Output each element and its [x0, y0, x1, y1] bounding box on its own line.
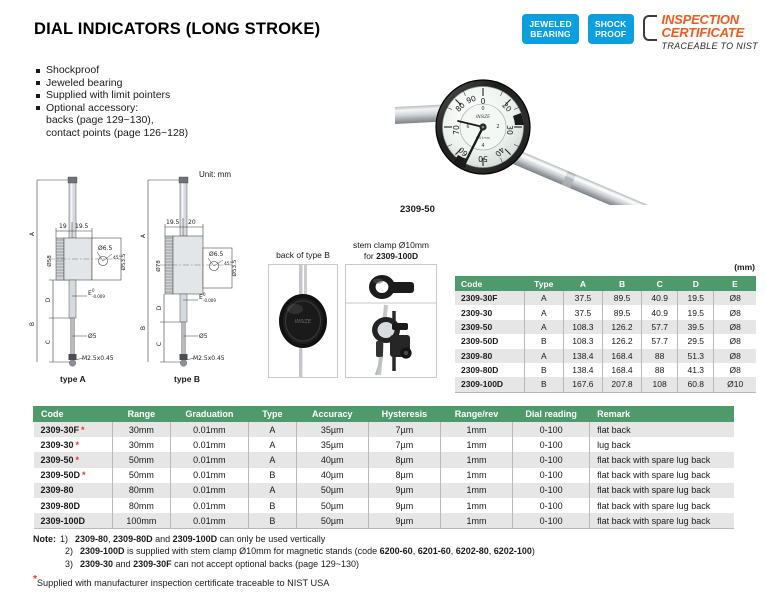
photo-back-of-type-b: INSIZE: [268, 264, 338, 378]
note-text: 2309-30 and 2309-30F can not accept opti…: [80, 558, 359, 570]
spec-cell-range: 100mm: [113, 513, 170, 529]
svg-text:4: 4: [481, 143, 484, 149]
dim-cell-code: 2309-30F: [455, 291, 524, 305]
required-star-icon: *: [82, 470, 86, 480]
spec-cell-remark: flat back with spare lug back: [590, 483, 734, 498]
table-row: 2309-30F*30mm0.01mmA35µm7µm1mm0-100flat …: [34, 422, 735, 437]
spec-col-type: Type: [249, 406, 297, 422]
product-photo-caption: 2309-50: [400, 204, 435, 215]
square-bullet-icon: [36, 106, 40, 110]
spec-cell-range: 50mm: [113, 468, 170, 483]
spec-cell-hysteresis: 8µm: [368, 468, 440, 483]
dim-bore: Ø6.5: [98, 245, 112, 252]
spec-col-remark: Remark: [590, 406, 734, 422]
dim-cell-type: B: [524, 377, 563, 392]
dim-cell-code: 2309-80: [455, 349, 524, 363]
spec-col-dial-reading: Dial reading: [513, 406, 590, 422]
dim-e-tol-top: 0: [203, 292, 206, 297]
list-item: Shockproof: [36, 64, 188, 77]
table-row: 2309-100D100mm0.01mmB50µm9µm1mm0-100flat…: [34, 513, 735, 529]
dim-cell-e: Ø8: [714, 320, 756, 334]
note-text: 2309-100D is supplied with stem clamp Ø1…: [80, 545, 535, 557]
spec-cell-hysteresis: 8µm: [368, 452, 440, 467]
dim-cell-c: 57.7: [642, 334, 678, 348]
table-header-row: Code Range Graduation Type Accuracy Hyst…: [34, 406, 735, 422]
dim-col-c: C: [642, 276, 678, 291]
feature-subline: backs (page 129~130),: [46, 114, 188, 127]
table-row: 2309-100DB167.6207.810860.8Ø10: [455, 377, 756, 392]
dim-bezel: Ø78: [155, 260, 162, 272]
dim-thread: M2.5x0.45: [82, 355, 114, 362]
certificate-bracket-icon: [643, 15, 657, 41]
jeweled-bearing-badge: JEWELED BEARING: [522, 14, 579, 44]
svg-text:2: 2: [496, 124, 499, 130]
spec-col-range-rev: Range/rev: [440, 406, 512, 422]
dim-c: C: [45, 340, 52, 344]
square-bullet-icon: [36, 69, 40, 73]
dim-d: D: [45, 297, 52, 302]
footnote: *Supplied with manufacturer inspection c…: [33, 574, 329, 588]
spec-cell-hysteresis: 7µm: [368, 422, 440, 437]
spec-cell-graduation: 0.01mm: [170, 498, 248, 513]
feature-label: Shockproof: [46, 64, 99, 77]
square-bullet-icon: [36, 94, 40, 98]
spec-cell-code: 2309-50*: [34, 452, 113, 467]
dim-cell-a: 138.4: [563, 349, 602, 363]
dimension-table-body: 2309-30FA37.589.540.919.5Ø82309-30A37.58…: [455, 291, 756, 392]
shock-badge-line2: PROOF: [595, 29, 627, 39]
spec-cell-type: B: [249, 498, 297, 513]
svg-text:INSIZE: INSIZE: [295, 319, 312, 325]
dim-cell-code: 2309-50: [455, 320, 524, 334]
spec-cell-range: 80mm: [113, 483, 170, 498]
dim-cell-type: B: [524, 363, 563, 377]
spec-cell-dial-reading: 0-100: [513, 513, 590, 529]
dim-c: C: [156, 342, 163, 346]
spec-cell-type: A: [249, 452, 297, 467]
svg-text:6: 6: [466, 124, 469, 130]
dim-dial: Ø53.5: [120, 253, 127, 270]
spec-cell-remark: flat back with spare lug back: [590, 513, 734, 529]
svg-text:INSIZE: INSIZE: [476, 114, 490, 119]
table-row: 2309-50D*50mm0.01mmB40µm8µm1mm0-100flat …: [34, 468, 735, 483]
required-star-icon: *: [81, 425, 85, 435]
dim-cell-d: 29.5: [678, 334, 714, 348]
spec-cell-hysteresis: 7µm: [368, 437, 440, 452]
dim-cell-c: 88: [642, 349, 678, 363]
dim-b: B: [140, 326, 147, 330]
dim-cell-type: A: [524, 349, 563, 363]
dim-d: D: [156, 305, 163, 310]
spec-cell-accuracy: 50µm: [296, 498, 368, 513]
photo-stem-clamp: [345, 264, 437, 378]
dim-cell-type: A: [524, 291, 563, 305]
spec-cell-graduation: 0.01mm: [170, 483, 248, 498]
dim-cell-e: Ø8: [714, 291, 756, 305]
spec-cell-code: 2309-30*: [34, 437, 113, 452]
certificate-text-block: INSPECTION CERTIFICATE TRACEABLE TO NIST: [662, 14, 758, 51]
spec-col-hysteresis: Hysteresis: [368, 406, 440, 422]
footnote-text: Supplied with manufacturer inspection ce…: [37, 578, 329, 588]
dim-angle: 45°: [113, 255, 121, 261]
spec-cell-range-rev: 1mm: [440, 513, 512, 529]
page-title: DIAL INDICATORS (LONG STROKE): [34, 20, 320, 39]
dim-cell-e: Ø10: [714, 377, 756, 392]
spec-cell-hysteresis: 9µm: [368, 513, 440, 529]
spec-cell-graduation: 0.01mm: [170, 437, 248, 452]
dim-cell-b: 89.5: [602, 305, 641, 319]
spec-cell-code: 2309-50D*: [34, 468, 113, 483]
required-star-icon: *: [76, 455, 80, 465]
spec-cell-type: B: [249, 468, 297, 483]
panel-title-back-of-type-b: back of type B: [268, 250, 338, 260]
note-text: 2309-80, 2309-80D and 2309-100D can only…: [75, 533, 325, 545]
note-item: Note: 1) 2309-80, 2309-80D and 2309-100D…: [33, 533, 753, 545]
jeweled-badge-line2: BEARING: [529, 29, 572, 39]
spec-cell-code: 2309-80: [34, 483, 113, 498]
dim-cell-a: 37.5: [563, 305, 602, 319]
spec-cell-graduation: 0.01mm: [170, 452, 248, 467]
spec-cell-range-rev: 1mm: [440, 498, 512, 513]
spec-cell-accuracy: 35µm: [296, 437, 368, 452]
engineering-drawing-type-b: 19.5 20 Ø6.5 45° E 0 -0.009 Ø5 M2.5x0.45…: [140, 176, 268, 372]
dim-cell-b: 89.5: [602, 291, 641, 305]
square-bullet-icon: [36, 81, 40, 85]
dim-cell-a: 37.5: [563, 291, 602, 305]
spec-cell-code: 2309-100D: [34, 513, 113, 529]
spec-cell-dial-reading: 0-100: [513, 483, 590, 498]
table-row: 2309-80DB138.4168.48841.3Ø8: [455, 363, 756, 377]
spec-cell-hysteresis: 9µm: [368, 498, 440, 513]
specification-table-body: 2309-30F*30mm0.01mmA35µm7µm1mm0-100flat …: [34, 422, 735, 529]
dim-dial: Ø53.5: [231, 259, 238, 276]
list-item: Optional accessory:: [36, 102, 188, 115]
spec-col-code: Code: [34, 406, 113, 422]
dim-col-b: B: [602, 276, 641, 291]
table-row: 2309-30*30mm0.01mmA35µm7µm1mm0-100lug ba…: [34, 437, 735, 452]
spec-col-range: Range: [113, 406, 170, 422]
spec-cell-remark: flat back with spare lug back: [590, 452, 734, 467]
feature-label: Supplied with limit pointers: [46, 89, 170, 102]
spec-cell-range-rev: 1mm: [440, 452, 512, 467]
spec-cell-range: 80mm: [113, 498, 170, 513]
spec-col-graduation: Graduation: [170, 406, 248, 422]
spec-cell-graduation: 0.01mm: [170, 468, 248, 483]
dim-cell-d: 60.8: [678, 377, 714, 392]
dim-cell-type: A: [524, 320, 563, 334]
dim-e-tol-bot: -0.009: [203, 298, 216, 303]
spec-cell-graduation: 0.01mm: [170, 513, 248, 529]
dim-cell-e: Ø8: [714, 334, 756, 348]
spec-cell-accuracy: 50µm: [296, 483, 368, 498]
dim-a: A: [140, 233, 147, 238]
dim-cell-d: 19.5: [678, 291, 714, 305]
dim-cell-c: 40.9: [642, 305, 678, 319]
spec-cell-type: B: [249, 513, 297, 529]
table-row: 2309-30A37.589.540.919.5Ø8: [455, 305, 756, 319]
spec-col-accuracy: Accuracy: [296, 406, 368, 422]
dim-cell-c: 57.7: [642, 320, 678, 334]
spec-cell-code: 2309-30F*: [34, 422, 113, 437]
dim-cell-e: Ø8: [714, 363, 756, 377]
drawing-caption-type-a: type A: [60, 374, 86, 384]
note-item: 3) 2309-30 and 2309-30F can not accept o…: [33, 558, 753, 570]
list-item: Jeweled bearing: [36, 77, 188, 90]
feature-label: Jeweled bearing: [46, 77, 122, 90]
spec-cell-accuracy: 40µm: [296, 468, 368, 483]
dim-cell-c: 108: [642, 377, 678, 392]
spec-cell-range-rev: 1mm: [440, 422, 512, 437]
dim-b: B: [29, 322, 36, 326]
notes-block: Note: 1) 2309-80, 2309-80D and 2309-100D…: [33, 533, 753, 570]
product-photo-dial-indicator: 0 20 30 40 50 60 70 80 90 02 46 INSIZE 0…: [395, 55, 735, 205]
note-item: 2) 2309-100D is supplied with stem clamp…: [33, 545, 753, 557]
certificate-line2: CERTIFICATE: [662, 27, 758, 40]
spec-cell-dial-reading: 0-100: [513, 468, 590, 483]
dim-cell-c: 88: [642, 363, 678, 377]
dim-e-tol-top: 0: [92, 288, 95, 293]
dim-bore: Ø6.5: [209, 251, 223, 258]
feature-subline: contact points (page 126~128): [46, 127, 188, 140]
note-label: Note:: [33, 533, 56, 545]
dim-stem: Ø5: [199, 333, 208, 340]
dim-cell-b: 126.2: [602, 320, 641, 334]
certificate-subtitle: TRACEABLE TO NIST: [662, 41, 758, 51]
dim-19-5: 19.5: [75, 223, 89, 230]
spec-cell-remark: flat back with spare lug back: [590, 498, 734, 513]
spec-cell-range-rev: 1mm: [440, 468, 512, 483]
spec-cell-range: 30mm: [113, 437, 170, 452]
dim-cell-type: A: [524, 305, 563, 319]
dim-col-e: E: [714, 276, 756, 291]
stem-clamp-line2-prefix: for: [364, 251, 376, 261]
spec-cell-range: 30mm: [113, 422, 170, 437]
dim-cell-a: 108.3: [563, 334, 602, 348]
dim-cell-d: 41.3: [678, 363, 714, 377]
dim-cell-c: 40.9: [642, 291, 678, 305]
dim-bezel: Ø58: [46, 255, 53, 267]
dim-cell-b: 207.8: [602, 377, 641, 392]
dim-cell-d: 39.5: [678, 320, 714, 334]
dim-cell-a: 108.3: [563, 320, 602, 334]
dim-angle: 45°: [224, 261, 232, 267]
spec-cell-remark: lug back: [590, 437, 734, 452]
specification-table: Code Range Graduation Type Accuracy Hyst…: [33, 406, 734, 529]
required-star-icon: *: [76, 440, 80, 450]
spec-cell-hysteresis: 9µm: [368, 483, 440, 498]
drawing-caption-type-b: type B: [174, 374, 200, 384]
feature-label: Optional accessory:: [46, 102, 138, 115]
spec-cell-type: A: [249, 437, 297, 452]
dim-col-code: Code: [455, 276, 524, 291]
table-row: 2309-80A138.4168.48851.3Ø8: [455, 349, 756, 363]
dim-20: 20: [188, 219, 196, 226]
note-number: 3): [65, 558, 80, 570]
list-item: Supplied with limit pointers: [36, 89, 188, 102]
dim-cell-b: 168.4: [602, 349, 641, 363]
inspection-certificate-badge: INSPECTION CERTIFICATE TRACEABLE TO NIST: [643, 14, 758, 51]
dimension-table: Code Type A B C D E 2309-30FA37.589.540.…: [455, 276, 756, 393]
panel-title-stem-clamp: stem clamp Ø10mm for 2309-100D: [345, 240, 437, 261]
dim-cell-code: 2309-100D: [455, 377, 524, 392]
table-row: 2309-8080mm0.01mmA50µm9µm1mm0-100flat ba…: [34, 483, 735, 498]
spec-cell-accuracy: 35µm: [296, 422, 368, 437]
svg-text:0: 0: [481, 106, 484, 112]
spec-cell-code: 2309-80D: [34, 498, 113, 513]
table-header-row: Code Type A B C D E: [455, 276, 756, 291]
spec-cell-accuracy: 50µm: [296, 513, 368, 529]
svg-text:70: 70: [452, 125, 461, 135]
spec-cell-remark: flat back with spare lug back: [590, 468, 734, 483]
dim-cell-d: 19.5: [678, 305, 714, 319]
spec-cell-remark: flat back: [590, 422, 734, 437]
dim-a: A: [29, 231, 36, 236]
dim-cell-code: 2309-30: [455, 305, 524, 319]
dim-col-type: Type: [524, 276, 563, 291]
table-row: 2309-50A108.3126.257.739.5Ø8: [455, 320, 756, 334]
table-row: 2309-50DB108.3126.257.729.5Ø8: [455, 334, 756, 348]
svg-text:50: 50: [478, 154, 488, 163]
dim-table-unit-note: (mm): [734, 262, 755, 272]
dim-col-a: A: [563, 276, 602, 291]
shock-badge-line1: SHOCK: [595, 19, 627, 29]
feature-list: Shockproof Jeweled bearing Supplied with…: [36, 64, 188, 140]
dim-cell-b: 126.2: [602, 334, 641, 348]
dim-cell-e: Ø8: [714, 349, 756, 363]
dim-cell-code: 2309-80D: [455, 363, 524, 377]
dim-19: 19: [59, 223, 67, 230]
spec-cell-graduation: 0.01mm: [170, 422, 248, 437]
spec-cell-dial-reading: 0-100: [513, 437, 590, 452]
spec-cell-accuracy: 40µm: [296, 452, 368, 467]
spec-cell-range-rev: 1mm: [440, 437, 512, 452]
dim-19-5: 19.5: [166, 219, 180, 226]
shock-proof-badge: SHOCK PROOF: [588, 14, 634, 44]
dim-cell-code: 2309-50D: [455, 334, 524, 348]
badge-row: JEWELED BEARING SHOCK PROOF INSPECTION C…: [522, 14, 758, 51]
table-row: 2309-30FA37.589.540.919.5Ø8: [455, 291, 756, 305]
spec-cell-type: A: [249, 483, 297, 498]
stem-clamp-code: 2309-100D: [376, 251, 418, 261]
dim-thread: M2.5x0.45: [193, 355, 225, 362]
spec-cell-dial-reading: 0-100: [513, 498, 590, 513]
svg-text:30: 30: [505, 125, 514, 135]
spec-cell-dial-reading: 0-100: [513, 422, 590, 437]
spec-cell-range-rev: 1mm: [440, 483, 512, 498]
dim-cell-d: 51.3: [678, 349, 714, 363]
dim-cell-b: 168.4: [602, 363, 641, 377]
spec-cell-type: A: [249, 422, 297, 437]
dim-cell-a: 167.6: [563, 377, 602, 392]
dim-col-d: D: [678, 276, 714, 291]
note-number: 2): [65, 545, 80, 557]
spec-cell-range: 50mm: [113, 452, 170, 467]
dim-stem: Ø5: [88, 333, 97, 340]
note-number: 1): [60, 533, 75, 545]
dim-e-tol-bot: -0.009: [92, 294, 105, 299]
spec-cell-dial-reading: 0-100: [513, 452, 590, 467]
stem-clamp-line1: stem clamp Ø10mm: [353, 240, 429, 250]
dim-cell-e: Ø8: [714, 305, 756, 319]
table-row: 2309-80D80mm0.01mmB50µm9µm1mm0-100flat b…: [34, 498, 735, 513]
dim-cell-type: B: [524, 334, 563, 348]
table-row: 2309-50*50mm0.01mmA40µm8µm1mm0-100flat b…: [34, 452, 735, 467]
dim-cell-a: 138.4: [563, 363, 602, 377]
jeweled-badge-line1: JEWELED: [529, 19, 572, 29]
